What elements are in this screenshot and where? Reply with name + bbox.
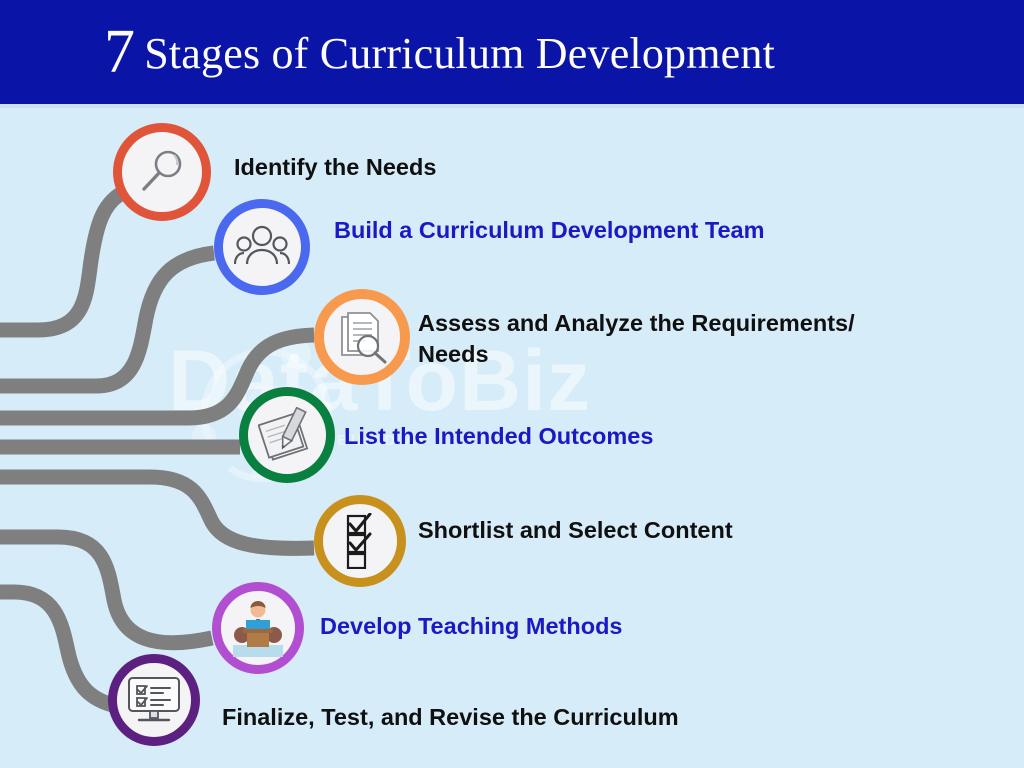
stage-node-1[interactable] (113, 123, 211, 221)
stage-label-2: Build a Curriculum Development Team (334, 215, 764, 246)
infographic-canvas: 7Stages of Curriculum Development DataTo… (0, 0, 1024, 768)
connector-lines (0, 0, 1024, 768)
monitor-checklist-icon (125, 675, 183, 725)
teacher-podium-icon (229, 599, 287, 657)
stage-label-5: Shortlist and Select Content (418, 515, 733, 546)
connector-2 (0, 253, 214, 386)
document-search-icon (334, 309, 390, 365)
checklist-icon (340, 513, 380, 569)
stage-label-6: Develop Teaching Methods (320, 611, 623, 642)
stage-node-2[interactable] (214, 199, 310, 295)
connector-7 (0, 592, 116, 706)
stage-node-3[interactable] (314, 289, 410, 385)
connector-1 (0, 190, 128, 330)
header-bar: 7Stages of Curriculum Development (0, 0, 1024, 104)
user-group-icon (234, 222, 290, 272)
magnifying-glass-icon (135, 145, 189, 199)
stage-node-6[interactable] (212, 582, 304, 674)
stage-count-number: 7 (104, 18, 135, 86)
stage-node-5[interactable] (314, 495, 406, 587)
connector-6 (0, 537, 212, 643)
stage-node-4[interactable] (239, 387, 335, 483)
header-divider (0, 104, 1024, 108)
page-title: 7Stages of Curriculum Development (104, 21, 775, 83)
notepad-pencil-icon (258, 407, 316, 463)
stage-label-7: Finalize, Test, and Revise the Curriculu… (222, 702, 679, 733)
connector-5 (0, 477, 314, 548)
stage-node-7[interactable] (108, 654, 200, 746)
stage-label-4: List the Intended Outcomes (344, 421, 653, 452)
stage-label-1: Identify the Needs (234, 152, 436, 183)
page-title-text: Stages of Curriculum Development (144, 29, 775, 78)
stage-label-3: Assess and Analyze the Requirements/ Nee… (418, 308, 938, 370)
